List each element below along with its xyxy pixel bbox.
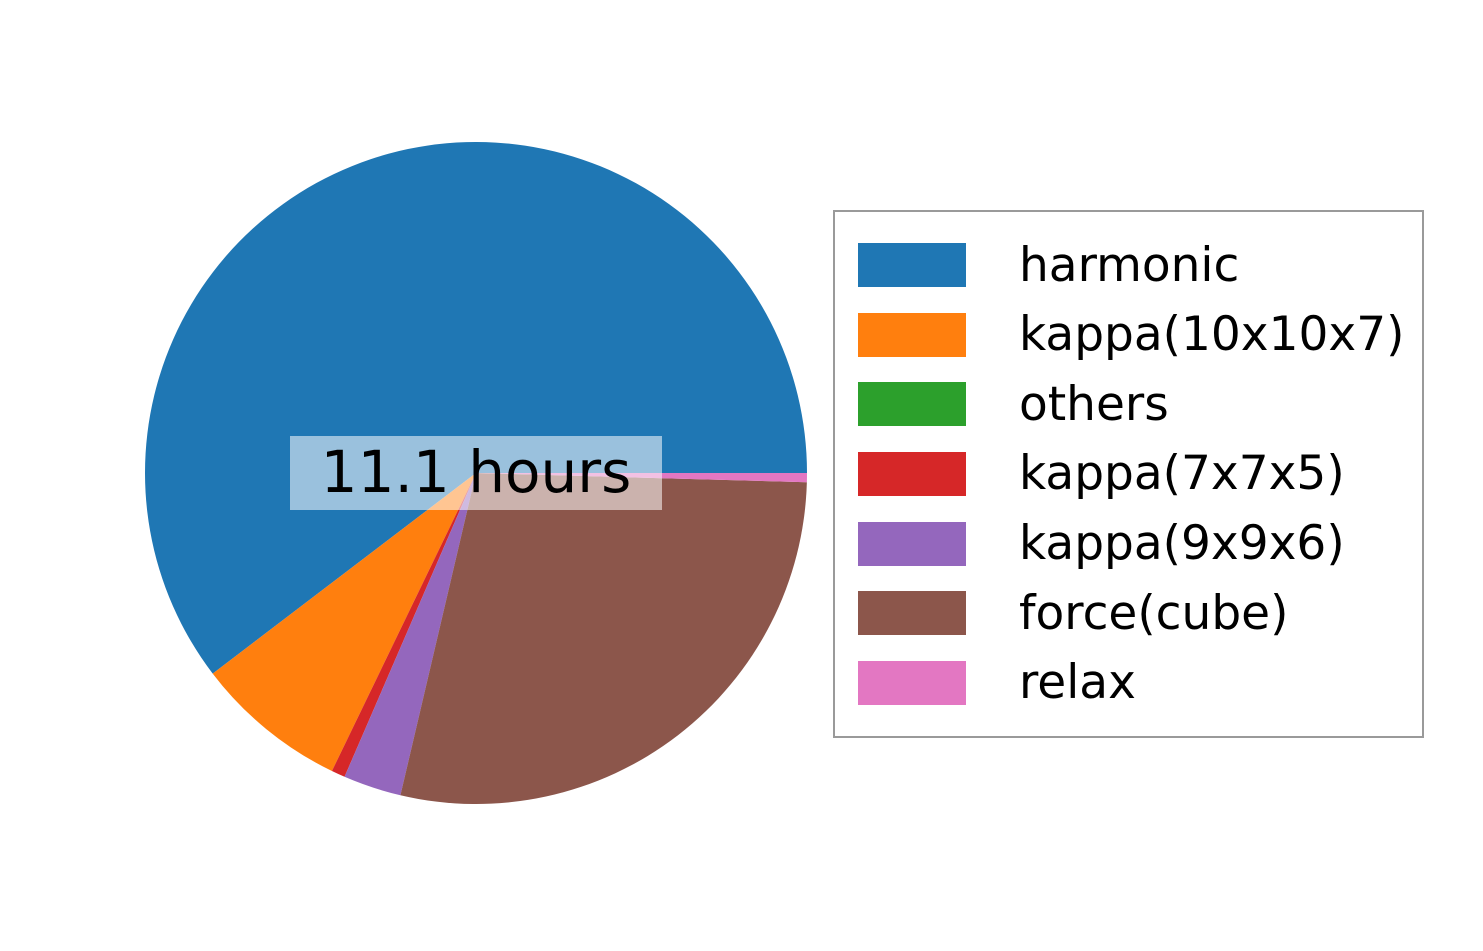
chart-legend: harmonickappa(10x10x7)otherskappa(7x7x5)… [833,210,1424,738]
legend-swatch-icon [858,591,966,635]
legend-swatch-icon [858,522,966,566]
center-annotation-text: 11.1 hours [321,443,632,501]
legend-swatch-icon [858,243,966,287]
legend-swatch-icon [858,313,966,357]
legend-item-kappa-7x7x5-[interactable]: kappa(7x7x5) [835,443,1422,505]
legend-swatch-icon [858,452,966,496]
legend-swatch-icon [858,382,966,426]
center-annotation: 11.1 hours [290,436,662,510]
legend-item-relax[interactable]: relax [835,652,1422,714]
legend-item-label: force(cube) [1019,590,1288,637]
legend-item-label: relax [1019,659,1136,706]
figure-canvas: 11.1 hours harmonickappa(10x10x7)othersk… [0,0,1483,951]
legend-swatch-icon [858,661,966,705]
legend-item-label: kappa(7x7x5) [1019,450,1345,497]
legend-item-others[interactable]: others [835,373,1422,435]
legend-item-force-cube-[interactable]: force(cube) [835,582,1422,644]
legend-item-harmonic[interactable]: harmonic [835,234,1422,296]
legend-item-label: kappa(10x10x7) [1019,311,1404,358]
legend-item-label: kappa(9x9x6) [1019,520,1345,567]
legend-item-label: others [1019,381,1169,428]
legend-item-label: harmonic [1019,242,1239,289]
legend-item-kappa-9x9x6-[interactable]: kappa(9x9x6) [835,513,1422,575]
legend-item-kappa-10x10x7-[interactable]: kappa(10x10x7) [835,304,1422,366]
